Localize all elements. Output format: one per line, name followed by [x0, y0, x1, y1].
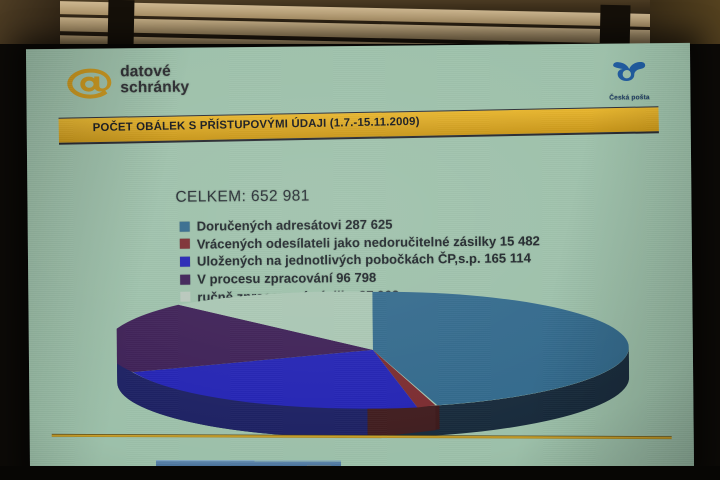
photo-scene: datové schránky Česká pošta POČET OBÁLEK… [0, 0, 720, 480]
slide-title-bar: POČET OBÁLEK S PŘÍSTUPOVÝMI ÚDAJI (1.7.-… [59, 106, 659, 145]
legend-swatch [180, 221, 190, 231]
pie-chart [112, 275, 634, 460]
page-title: POČET OBÁLEK S PŘÍSTUPOVÝMI ÚDAJI (1.7.-… [93, 116, 420, 134]
legend-swatch [180, 239, 190, 249]
ceska-posta-logo: Česká pošta [590, 61, 668, 106]
legend-label: Vrácených odesílateli jako nedoručitelné… [197, 233, 540, 251]
ceska-posta-horn-logo-icon [610, 61, 648, 88]
total-label: CELKEM: 652 981 [175, 187, 310, 206]
datove-schranky-logo: datové schránky [64, 63, 224, 105]
foreground-shadow [0, 466, 720, 480]
pie-chart-3d-top [116, 281, 629, 418]
legend-label: Doručených adresátovi 287 625 [197, 217, 393, 234]
legend-swatch [180, 257, 190, 267]
ceiling-post [108, 0, 135, 48]
projection-screen-slide: datové schránky Česká pošta POČET OBÁLEK… [26, 43, 694, 475]
brand-line-2: schránky [120, 80, 189, 97]
ceska-posta-caption: Česká pošta [590, 94, 668, 102]
datove-schranky-wordmark: datové schránky [120, 64, 189, 97]
at-sign-logo-icon [64, 66, 116, 100]
legend-label: Uložených na jednotlivých pobočkách ČP,s… [197, 251, 531, 269]
